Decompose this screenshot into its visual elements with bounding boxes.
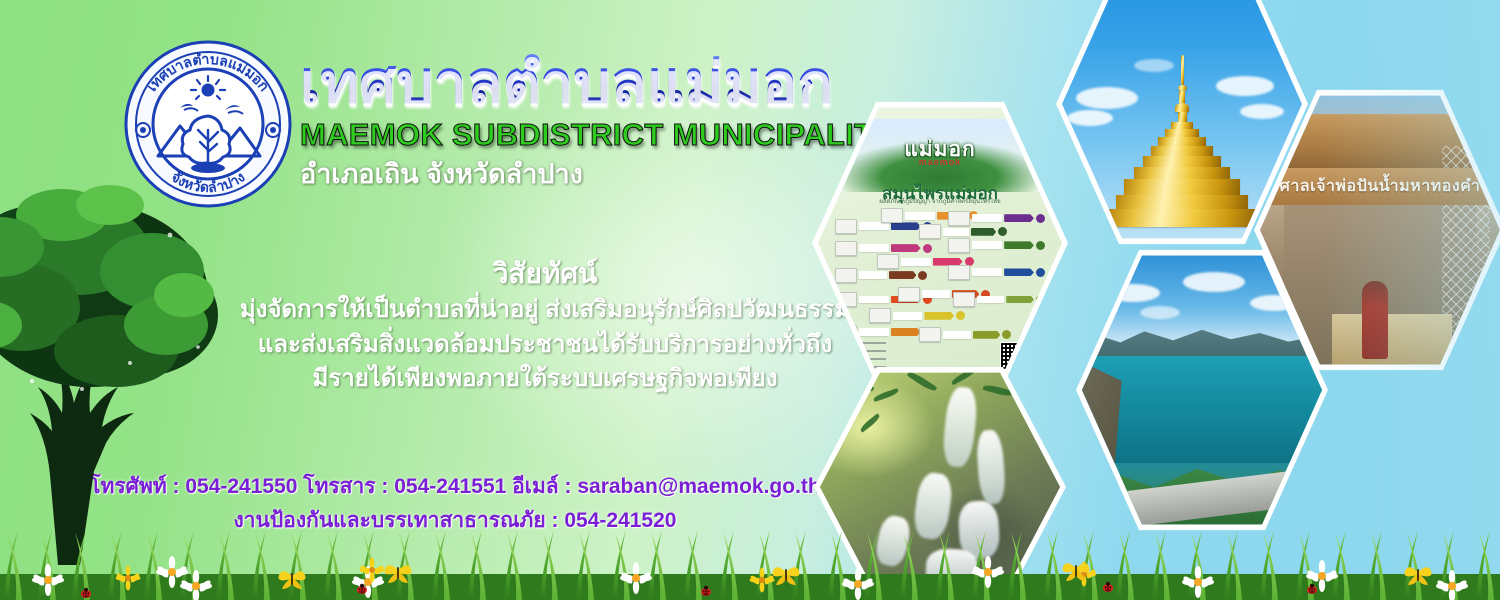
vision-line-3: มีรายได้เพียงพอภายใต้ระบบเศรษฐกิจพอเพียง bbox=[150, 362, 940, 397]
product-label bbox=[922, 290, 950, 298]
product-bar bbox=[891, 328, 921, 336]
product-label bbox=[893, 312, 923, 320]
product-item bbox=[919, 328, 1011, 341]
product-item bbox=[948, 239, 1045, 252]
product-dot bbox=[1036, 268, 1045, 277]
product-label bbox=[859, 296, 889, 304]
product-label bbox=[977, 296, 1005, 304]
product-label bbox=[905, 212, 935, 220]
shrine-statue bbox=[1362, 281, 1388, 359]
product-bar bbox=[1004, 241, 1034, 249]
vision-block: วิสัยทัศน์ มุ่งจัดการให้เป็นตำบลที่น่าอย… bbox=[150, 255, 940, 397]
product-thumb bbox=[948, 238, 970, 253]
product-bar bbox=[889, 271, 917, 279]
product-bar bbox=[971, 228, 997, 236]
product-label bbox=[972, 214, 1002, 222]
product-dot bbox=[1002, 330, 1011, 339]
title-th-wrap: เทศบาลตำบลแม่มอก เทศบาลตำบลแม่มอก bbox=[300, 52, 940, 115]
product-thumb bbox=[869, 308, 891, 323]
page-title-th: เทศบาลตำบลแม่มอก bbox=[300, 52, 940, 115]
page-title-en: MAEMOK SUBDISTRICT MUNICIPALITY bbox=[300, 117, 940, 153]
product-label bbox=[901, 258, 931, 266]
product-thumb bbox=[919, 327, 941, 342]
pagoda-structure bbox=[1108, 55, 1256, 227]
product-label bbox=[972, 268, 1002, 276]
product-thumb bbox=[948, 265, 970, 280]
product-item bbox=[919, 225, 1007, 238]
product-bar bbox=[1006, 296, 1034, 304]
product-item bbox=[953, 293, 1045, 306]
product-item bbox=[948, 212, 1045, 225]
product-bar bbox=[891, 222, 921, 230]
poster-logo-subtext: maemok bbox=[919, 157, 962, 167]
header-titles: เทศบาลตำบลแม่มอก เทศบาลตำบลแม่มอก MAEMOK… bbox=[300, 52, 940, 191]
product-label bbox=[859, 271, 887, 279]
product-label bbox=[859, 328, 889, 336]
vision-line-2: และส่งเสริมสิ่งแวดล้อมประชาชนได้รับบริกา… bbox=[150, 328, 940, 363]
product-label bbox=[859, 244, 889, 252]
vision-line-1: มุ่งจัดการให้เป็นตำบลที่น่าอยู่ ส่งเสริม… bbox=[150, 293, 940, 328]
shrine-sign-text: ศาลเจ้าพ่อปันน้ำมหาทองคำ bbox=[1280, 174, 1481, 199]
product-bar bbox=[1004, 214, 1034, 222]
product-dot bbox=[1036, 241, 1045, 250]
product-thumb bbox=[948, 211, 970, 226]
product-thumb bbox=[877, 254, 899, 269]
product-item bbox=[835, 242, 932, 255]
shrine-signboard: ศาลเจ้าพ่อปันน้ำมหาทองคำ bbox=[1270, 168, 1491, 204]
product-label bbox=[972, 241, 1002, 249]
pagoda-caption-line2: บ้านกุ่ bbox=[1260, 0, 1288, 4]
product-thumb bbox=[835, 219, 857, 234]
product-thumb bbox=[953, 292, 975, 307]
product-dot bbox=[923, 244, 932, 253]
product-label bbox=[943, 228, 969, 236]
product-thumb bbox=[835, 268, 857, 283]
product-item bbox=[948, 266, 1045, 279]
product-dot bbox=[918, 271, 927, 280]
product-label bbox=[943, 331, 971, 339]
poster-subtitle: ผลิตภัณฑ์ภูมิปัญญา จากภูมิศาสตร์สมุนไพรไ… bbox=[879, 196, 1000, 206]
product-thumb bbox=[881, 208, 903, 223]
product-thumb bbox=[835, 241, 857, 256]
product-thumb bbox=[919, 224, 941, 239]
product-bar bbox=[1004, 268, 1034, 276]
product-bar bbox=[973, 331, 1001, 339]
product-label bbox=[859, 222, 889, 230]
tree-illustration bbox=[0, 175, 240, 565]
product-item bbox=[835, 269, 927, 282]
product-dot bbox=[998, 227, 1007, 236]
shrine-altar bbox=[1332, 314, 1452, 370]
product-item bbox=[869, 309, 966, 322]
product-thumb bbox=[898, 287, 920, 302]
poster-product-grid bbox=[835, 209, 1045, 344]
grass-flower-strip bbox=[0, 528, 1500, 600]
municipality-banner: เทศบาลตำบลแม่มอก จังหวัดลำปาง เทศบาลตำบล… bbox=[0, 0, 1500, 600]
product-bar bbox=[891, 244, 921, 252]
product-dot bbox=[1036, 214, 1045, 223]
product-dot bbox=[956, 311, 965, 320]
product-bar bbox=[924, 312, 954, 320]
